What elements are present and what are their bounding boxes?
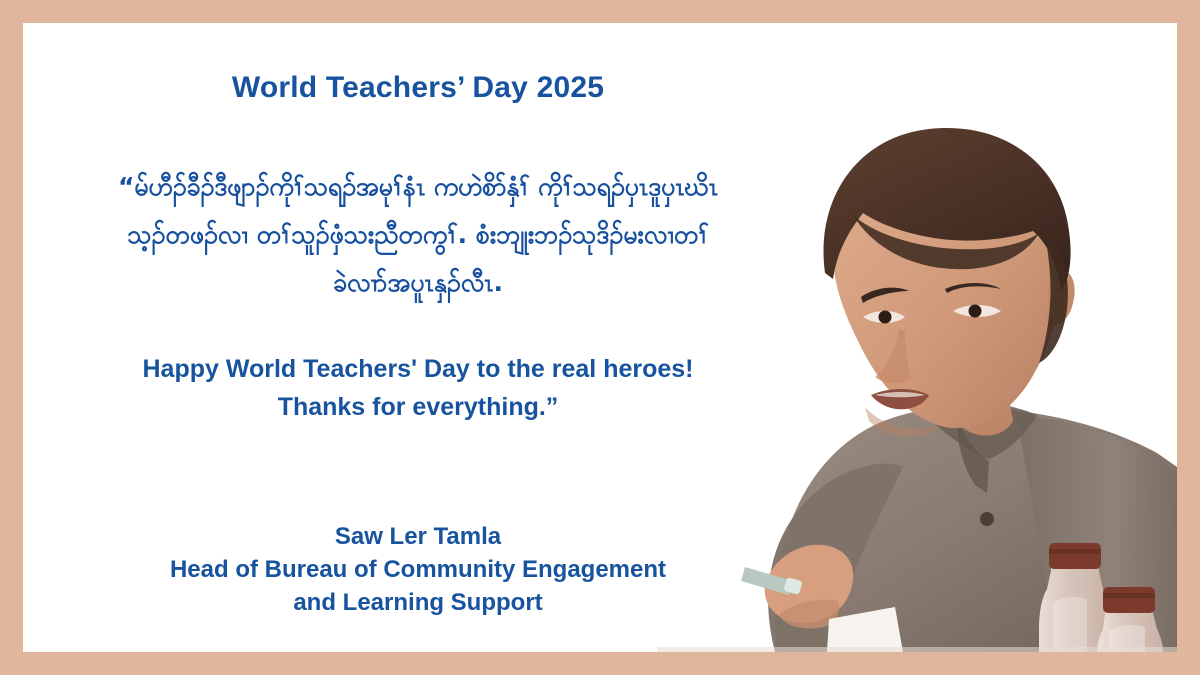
shirt-button xyxy=(980,512,994,526)
slide-card: World Teachers’ Day 2025 “မ်ဟီၣ်ခီၣ်ဒီဖျ… xyxy=(23,23,1177,652)
attribution-name: Saw Ler Tamla xyxy=(23,520,813,553)
page-title: World Teachers’ Day 2025 xyxy=(23,71,813,105)
pupil-left xyxy=(879,311,892,324)
quote-english-line-2: Thanks for everything.” xyxy=(23,388,813,426)
quote-karen-line-2: သ့ၣ်တဖၣ်လၢ တၢ်သူၣ်ဖှံသးညီတကွၢ်. စံးဘျုးဘ… xyxy=(23,211,813,259)
water-bottle-front xyxy=(1097,587,1163,652)
slide-canvas: World Teachers’ Day 2025 “မ်ဟီၣ်ခီၣ်ဒီဖျ… xyxy=(0,0,1200,675)
attribution-role-line-2: and Learning Support xyxy=(23,586,813,619)
quote-english: Happy World Teachers' Day to the real he… xyxy=(23,350,813,426)
quote-karen-line-1: “မ်ဟီၣ်ခီၣ်ဒီဖျာၣ်ကိုၢ်သရၣ်အမုၢ်နံၤ ကဟဲစ… xyxy=(23,163,813,211)
quote-karen-line-3: ခဲလၢာ်အပူၤနှၣ်လီၤ. xyxy=(23,259,813,307)
attribution-role-line-1: Head of Bureau of Community Engagement xyxy=(23,553,813,586)
quote-english-line-1: Happy World Teachers' Day to the real he… xyxy=(23,350,813,388)
pupil-right xyxy=(969,305,982,318)
attribution-block: Saw Ler Tamla Head of Bureau of Communit… xyxy=(23,520,813,619)
quote-karen: “မ်ဟီၣ်ခီၣ်ဒီဖျာၣ်ကိုၢ်သရၣ်အမုၢ်နံၤ ကဟဲစ… xyxy=(23,163,813,307)
bottle-cap-front xyxy=(1103,587,1155,613)
bottle-cap-back xyxy=(1049,543,1101,569)
text-column: World Teachers’ Day 2025 “မ်ဟီၣ်ခီၣ်ဒီဖျ… xyxy=(23,23,813,652)
